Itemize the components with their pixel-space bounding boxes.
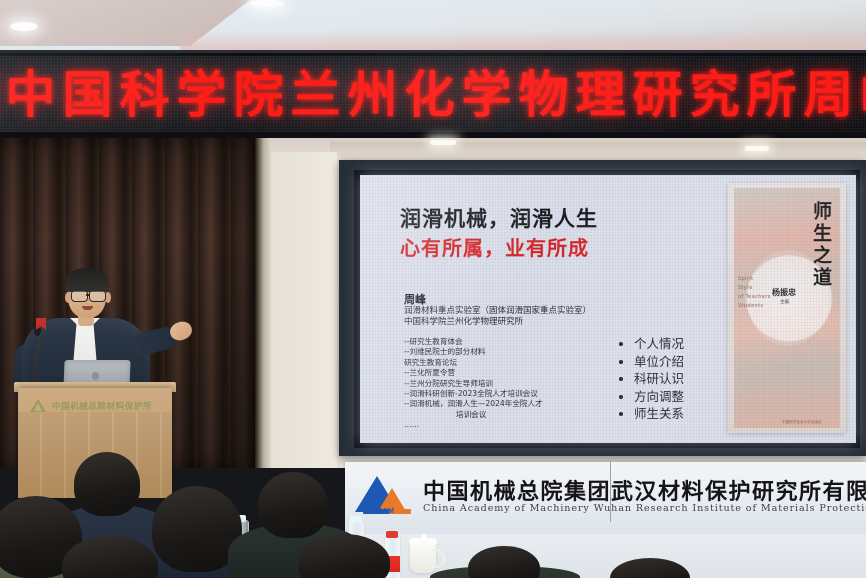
slide-sublist-item: --兰州分院研究生导师培训 xyxy=(404,379,543,389)
presentation-display: 润滑机械，润滑人生 心有所属，业有所成 周峰 润滑材料重点实验室（固体润滑国家重… xyxy=(360,175,856,443)
slide-sublist-item: --刘维民院士的部分材料 xyxy=(404,347,543,357)
slide-subtitle: 心有所属，业有所成 xyxy=(400,232,589,261)
ceiling-light-icon xyxy=(250,0,284,7)
bottle-cap xyxy=(386,531,398,538)
curtain-edge xyxy=(255,138,271,468)
eyeglasses-icon xyxy=(89,290,106,302)
slide-title: 润滑机械，润滑人生 xyxy=(400,203,598,233)
laptop-logo-icon xyxy=(92,372,99,380)
book-publisher: 中国科学技术大学出版社 xyxy=(782,420,822,425)
slide-sublist-item: --研究生教育体会 xyxy=(404,337,543,347)
logo-inner-triangle xyxy=(34,403,42,411)
slide-sublist: --研究生教育体会 --刘维民院士的部分材料 研究生教育论坛 --兰化所夏令营 … xyxy=(404,337,543,431)
slide-agenda-bullets: 个人情况 单位介绍 科研认识 方向调整 师生关系 xyxy=(612,335,684,423)
mountain-triangle-logo-icon xyxy=(30,399,47,413)
led-banner-text: 迎中国科学院兰州化学物理研究所周峰 xyxy=(0,57,866,125)
book-cover-image: 师生之道 SpiritStyleof TeachersStudents 杨振忠 … xyxy=(728,183,846,433)
sponsor-name-english: China Academy of Machinery Wuhan Researc… xyxy=(423,503,866,514)
cam-mountain-logo-icon: CAM xyxy=(355,472,417,514)
slide-bullet-item: 师生关系 xyxy=(634,405,684,423)
cup-lid-knob xyxy=(421,534,427,539)
slide-affiliation-line-2: 中国科学院兰州化学物理研究所 xyxy=(404,317,591,328)
wall-panel xyxy=(271,152,337,468)
slide-author-name: 周峰 xyxy=(404,291,426,307)
eyeglasses-bridge xyxy=(86,294,90,296)
audience-head xyxy=(258,472,328,538)
eyeglasses-icon xyxy=(71,290,88,302)
logo-wordmark: CAM xyxy=(377,508,394,515)
slide-bullet-item: 单位介绍 xyxy=(634,353,684,371)
slide-bullet-item: 方向调整 xyxy=(634,388,684,406)
wall-light-valance xyxy=(330,142,866,156)
slide-bullet-item: 科研认识 xyxy=(634,370,684,388)
wall-light-icon xyxy=(430,140,456,145)
audience-head xyxy=(74,452,140,516)
slide-affiliation: 润滑材料重点实验室（固体润滑国家重点实验室） 中国科学院兰州化学物理研究所 xyxy=(404,306,591,328)
slide-affiliation-line-1: 润滑材料重点实验室（固体润滑国家重点实验室） xyxy=(404,306,591,317)
wall-light-icon xyxy=(745,146,769,151)
podium-sign-text: 中国机械总院材料保护所 xyxy=(52,400,152,412)
speaker-hair xyxy=(66,268,108,292)
ceiling-light-icon xyxy=(10,22,38,31)
bottle-cap xyxy=(350,516,362,523)
slide-sublist-item: 研究生教育论坛 xyxy=(404,358,543,368)
book-title: 师生之道 xyxy=(810,201,832,289)
book-author-role: 主编 xyxy=(780,299,789,305)
sponsor-banner: CAM 中国机械总院集团武汉材料保护研究所有限公司 China Academy … xyxy=(345,462,866,534)
slide-sublist-item: --润滑机械，润滑人生—2024年全院人才 xyxy=(404,399,543,409)
sponsor-name-chinese: 中国机械总院集团武汉材料保护研究所有限公司 xyxy=(423,474,866,506)
slide-sublist-item: 培训会议 xyxy=(404,410,486,420)
lecture-hall-photo: 迎中国科学院兰州化学物理研究所周峰 润滑机械，润滑人生 心有所属，业有所成 周峰… xyxy=(0,0,866,578)
slide-sublist-item: --兰化所夏令营 xyxy=(404,368,543,378)
slide-sublist-item: …… xyxy=(404,420,543,430)
presentation-slide: 润滑机械，润滑人生 心有所属，业有所成 周峰 润滑材料重点实验室（固体润滑国家重… xyxy=(360,175,856,443)
book-english-subtitle: SpiritStyleof TeachersStudents xyxy=(738,275,771,311)
cup-lid xyxy=(409,538,437,545)
slide-bullet-item: 个人情况 xyxy=(634,335,684,353)
slide-sublist-item: --润滑科研创新-2023全院人才培训会议 xyxy=(404,389,543,399)
banner-seam xyxy=(610,462,611,522)
podium-sign: 中国机械总院材料保护所 xyxy=(30,396,162,416)
tea-cup xyxy=(410,543,436,573)
book-author: 杨振忠 xyxy=(772,287,796,298)
led-banner: 迎中国科学院兰州化学物理研究所周峰 xyxy=(0,50,866,145)
